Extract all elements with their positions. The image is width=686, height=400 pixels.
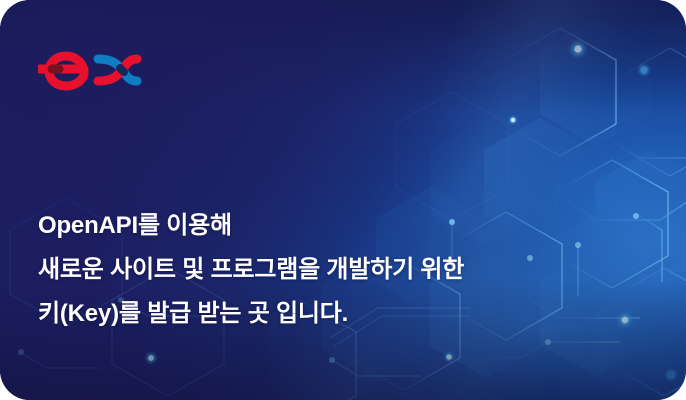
openapi-key-issuance-banner: OpenAPI를 이용해 새로운 사이트 및 프로그램을 개발하기 위한 키(K… bbox=[0, 0, 686, 400]
headline-line-3: 키(Key)를 발급 받는 곳 입니다. bbox=[38, 292, 638, 336]
headline-block: OpenAPI를 이용해 새로운 사이트 및 프로그램을 개발하기 위한 키(K… bbox=[38, 204, 638, 336]
headline-line-2: 새로운 사이트 및 프로그램을 개발하기 위한 bbox=[38, 248, 638, 292]
ex-logo bbox=[38, 48, 142, 92]
headline-line-1: OpenAPI를 이용해 bbox=[38, 204, 638, 248]
